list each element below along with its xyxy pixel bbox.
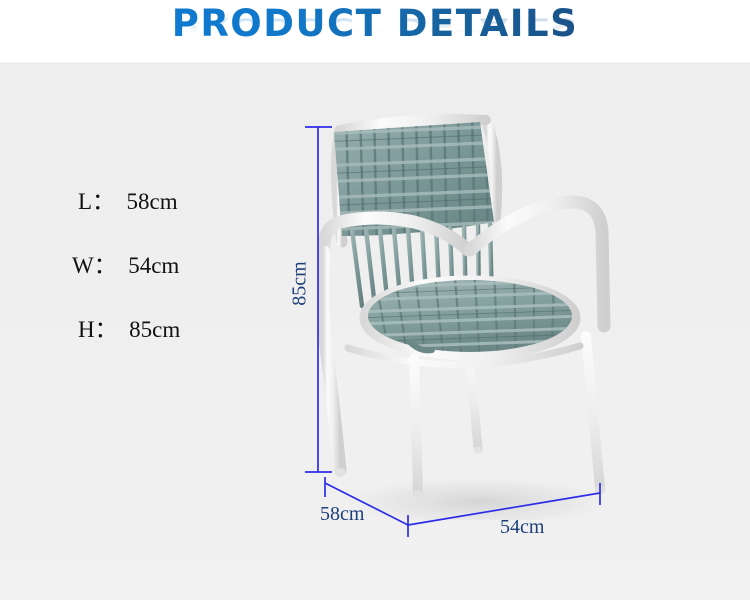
specification-list: L： 58cm W： 54cm H： 85cm: [72, 170, 282, 362]
spec-length: L： 58cm: [72, 170, 282, 234]
foot-front-center: [413, 490, 424, 498]
leg-rear-right: [586, 336, 600, 488]
leg-front-left: [323, 252, 340, 470]
page-header: PRODUCT DETAILS PRODUCT DETAILS: [0, 0, 750, 63]
title-block: PRODUCT DETAILS PRODUCT DETAILS: [0, 0, 750, 63]
foot-rear-right: [595, 486, 606, 494]
page-title-reflection: PRODUCT DETAILS: [172, 13, 579, 37]
product-details-page: PRODUCT DETAILS PRODUCT DETAILS L： 58cm …: [0, 0, 750, 600]
leg-front-center: [414, 358, 418, 492]
product-photo-chair: [318, 110, 618, 520]
foot-rear-left: [473, 447, 483, 454]
seat-weave: [358, 266, 584, 364]
spec-width: W： 54cm: [72, 234, 282, 298]
foot-front-left: [335, 468, 346, 476]
floor-shadow: [338, 476, 618, 520]
spec-height: H： 85cm: [72, 298, 282, 362]
